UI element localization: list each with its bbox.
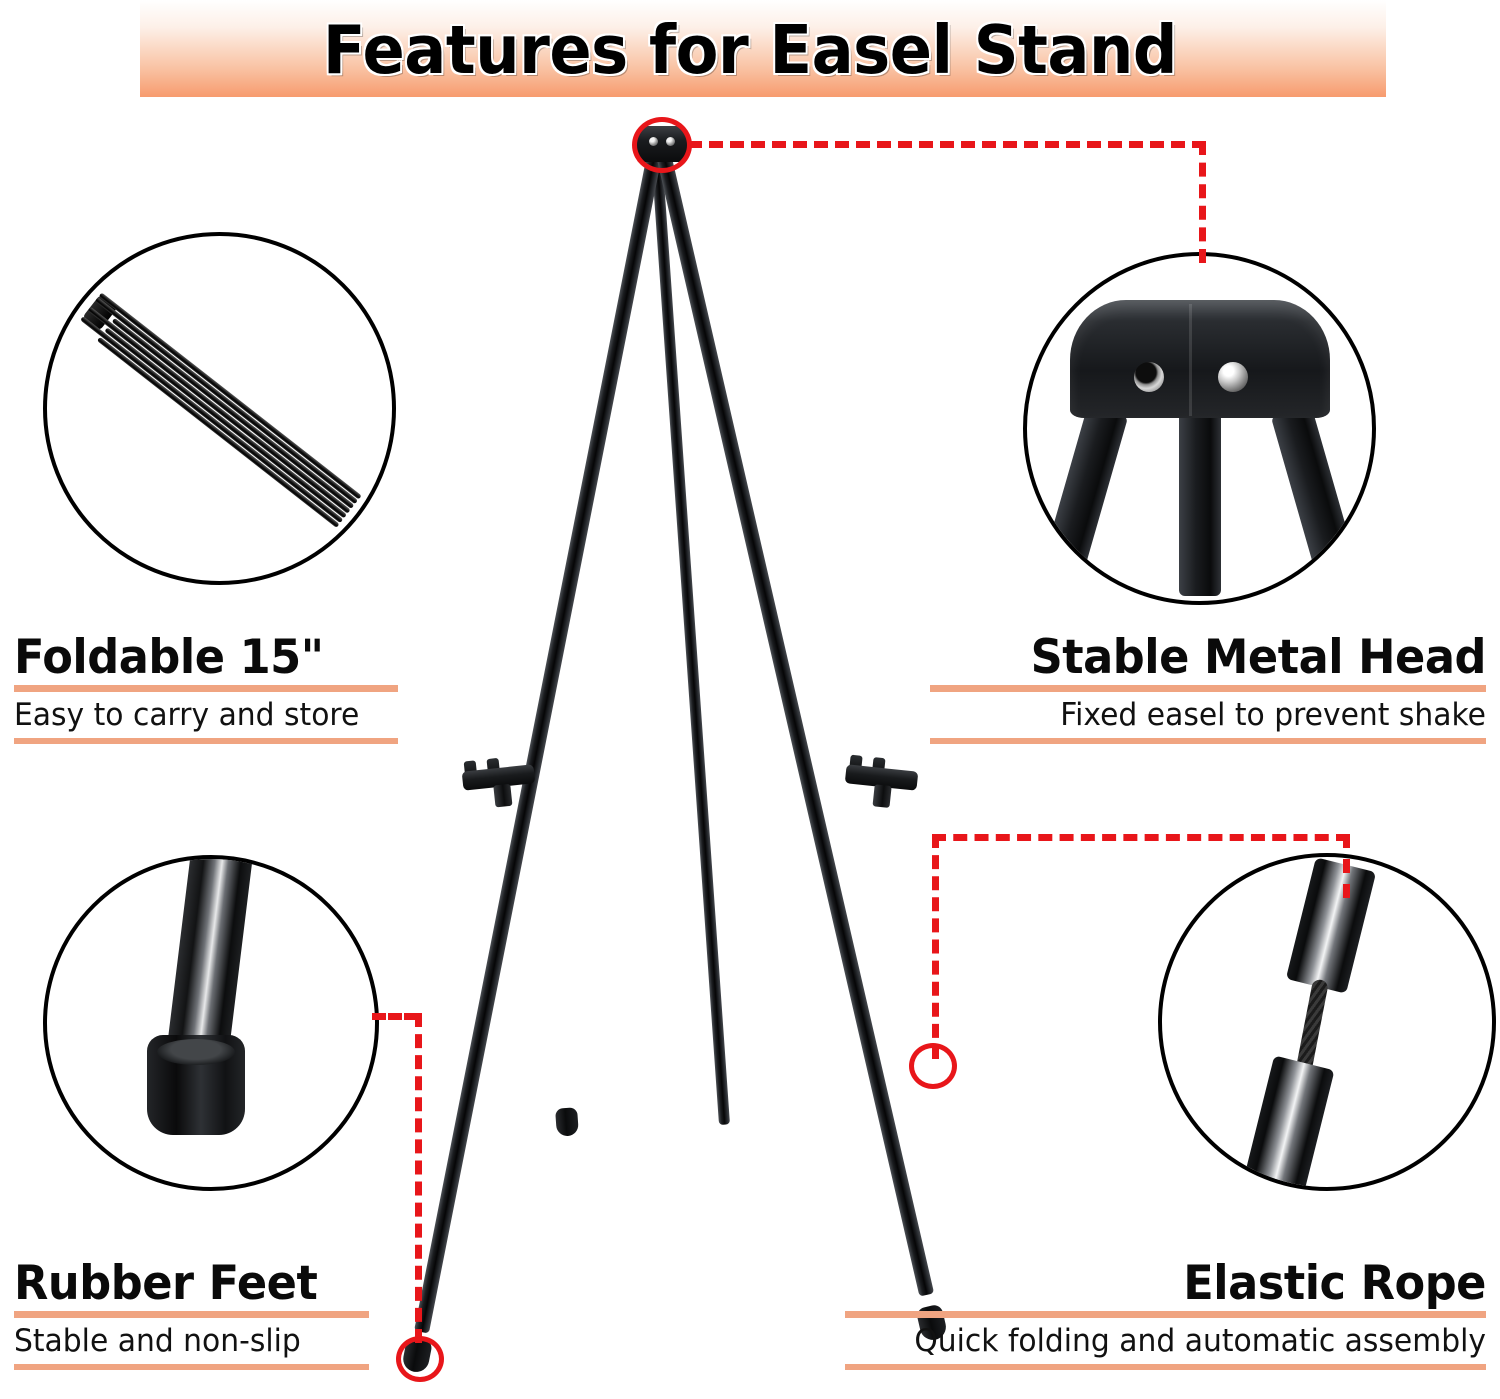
callout-line-rope-horizontal bbox=[932, 834, 1350, 841]
feature-foldable-subtitle: Easy to carry and store bbox=[14, 692, 383, 739]
detail-circle-metal-head bbox=[1023, 252, 1376, 605]
feature-metal-head-rule-top bbox=[930, 685, 1486, 692]
callout-line-head-horizontal bbox=[688, 141, 1206, 148]
tube-upper-icon bbox=[1286, 857, 1376, 993]
folded-rods-bundle-icon bbox=[75, 289, 363, 528]
feature-rubber-feet-rule-top bbox=[14, 1311, 369, 1318]
feature-foldable: Foldable 15" Easy to carry and store bbox=[14, 632, 398, 744]
feature-metal-head-subtitle: Fixed easel to prevent shake bbox=[952, 692, 1486, 739]
detail-circle-elastic-rope bbox=[1158, 853, 1496, 1191]
callout-ring-head bbox=[632, 117, 692, 173]
feature-foldable-rule-top bbox=[14, 685, 398, 692]
easel-front-right-leg bbox=[655, 148, 934, 1296]
feature-metal-head-title: Stable Metal Head bbox=[958, 632, 1486, 685]
easel-front-left-leg bbox=[414, 149, 663, 1334]
head-leg-right-icon bbox=[1271, 405, 1358, 580]
easel-tray-clip-right bbox=[845, 754, 920, 791]
feature-metal-head-rule-bottom bbox=[930, 738, 1486, 744]
callout-line-foot-horizontal bbox=[372, 1013, 418, 1020]
tripod-head-cap-icon bbox=[1070, 300, 1330, 418]
callout-line-foot-vertical bbox=[415, 1013, 422, 1343]
rivet-shiny-icon bbox=[1218, 362, 1248, 392]
feature-elastic-rope-rule-top bbox=[845, 1311, 1486, 1318]
feature-elastic-rope: Elastic Rope Quick folding and automatic… bbox=[845, 1258, 1486, 1370]
head-leg-left-icon bbox=[1041, 405, 1128, 580]
callout-line-rope-vertical-right bbox=[1343, 834, 1350, 898]
feature-rubber-feet-rule-bottom bbox=[14, 1364, 369, 1370]
rubber-foot-tip-icon bbox=[147, 1035, 245, 1135]
feature-elastic-rope-title: Elastic Rope bbox=[877, 1258, 1486, 1311]
easel-back-foot bbox=[555, 1107, 579, 1136]
head-leg-center-icon bbox=[1179, 411, 1221, 596]
tube-lower-icon bbox=[1243, 1055, 1334, 1191]
feature-elastic-rope-rule-bottom bbox=[845, 1364, 1486, 1370]
feature-rubber-feet-title: Rubber Feet bbox=[14, 1258, 351, 1311]
easel-back-leg bbox=[651, 152, 730, 1125]
feature-elastic-rope-subtitle: Quick folding and automatic assembly bbox=[871, 1318, 1486, 1365]
rivet-hollow-icon bbox=[1134, 362, 1164, 392]
feature-metal-head: Stable Metal Head Fixed easel to prevent… bbox=[930, 632, 1486, 744]
leg-tube-icon bbox=[167, 855, 253, 1054]
easel-tray-clip-left bbox=[461, 754, 536, 791]
feature-rubber-feet-subtitle: Stable and non-slip bbox=[14, 1318, 355, 1365]
callout-ring-foot bbox=[396, 1336, 444, 1382]
callout-line-head-vertical bbox=[1199, 141, 1206, 263]
callout-ring-rope bbox=[909, 1043, 957, 1089]
infographic-page: Features for Easel Stand bbox=[0, 0, 1500, 1399]
page-title: Features for Easel Stand bbox=[53, 0, 1448, 100]
feature-rubber-feet: Rubber Feet Stable and non-slip bbox=[14, 1258, 369, 1370]
detail-circle-rubber-foot bbox=[43, 855, 379, 1191]
callout-line-rope-vertical-left bbox=[932, 834, 939, 1059]
detail-circle-foldable bbox=[43, 232, 396, 585]
feature-foldable-title: Foldable 15" bbox=[14, 632, 379, 685]
feature-foldable-rule-bottom bbox=[14, 738, 398, 744]
